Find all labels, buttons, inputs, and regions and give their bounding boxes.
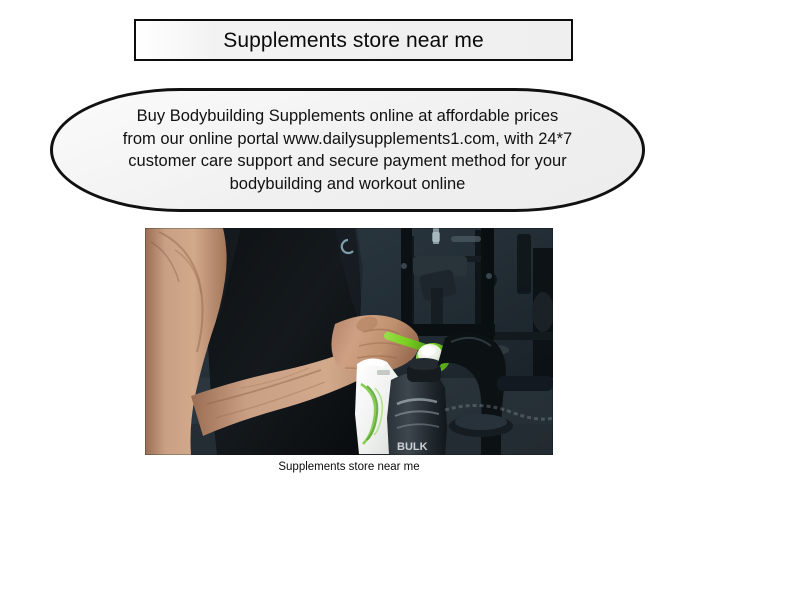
title-box: Supplements store near me <box>134 19 573 61</box>
photo-caption: Supplements store near me <box>145 455 553 474</box>
supplement-photo: BULK <box>145 228 553 455</box>
description-text: Buy Bodybuilding Supplements online at a… <box>98 105 598 195</box>
sachet-label <box>377 370 390 375</box>
description-callout: Buy Bodybuilding Supplements online at a… <box>50 88 645 212</box>
photo-figure: BULK Supplements store near me <box>145 228 553 474</box>
bottle-brand-text: BULK <box>397 441 428 453</box>
description-line-1: Buy Bodybuilding Supplements online at a… <box>98 105 598 128</box>
page-title: Supplements store near me <box>223 30 483 51</box>
description-line-4: bodybuilding and workout online <box>98 173 598 196</box>
description-line-2: from our online portal www.dailysuppleme… <box>98 128 598 151</box>
description-line-3: customer care support and secure payment… <box>98 150 598 173</box>
photo-illustration: BULK <box>145 228 553 455</box>
